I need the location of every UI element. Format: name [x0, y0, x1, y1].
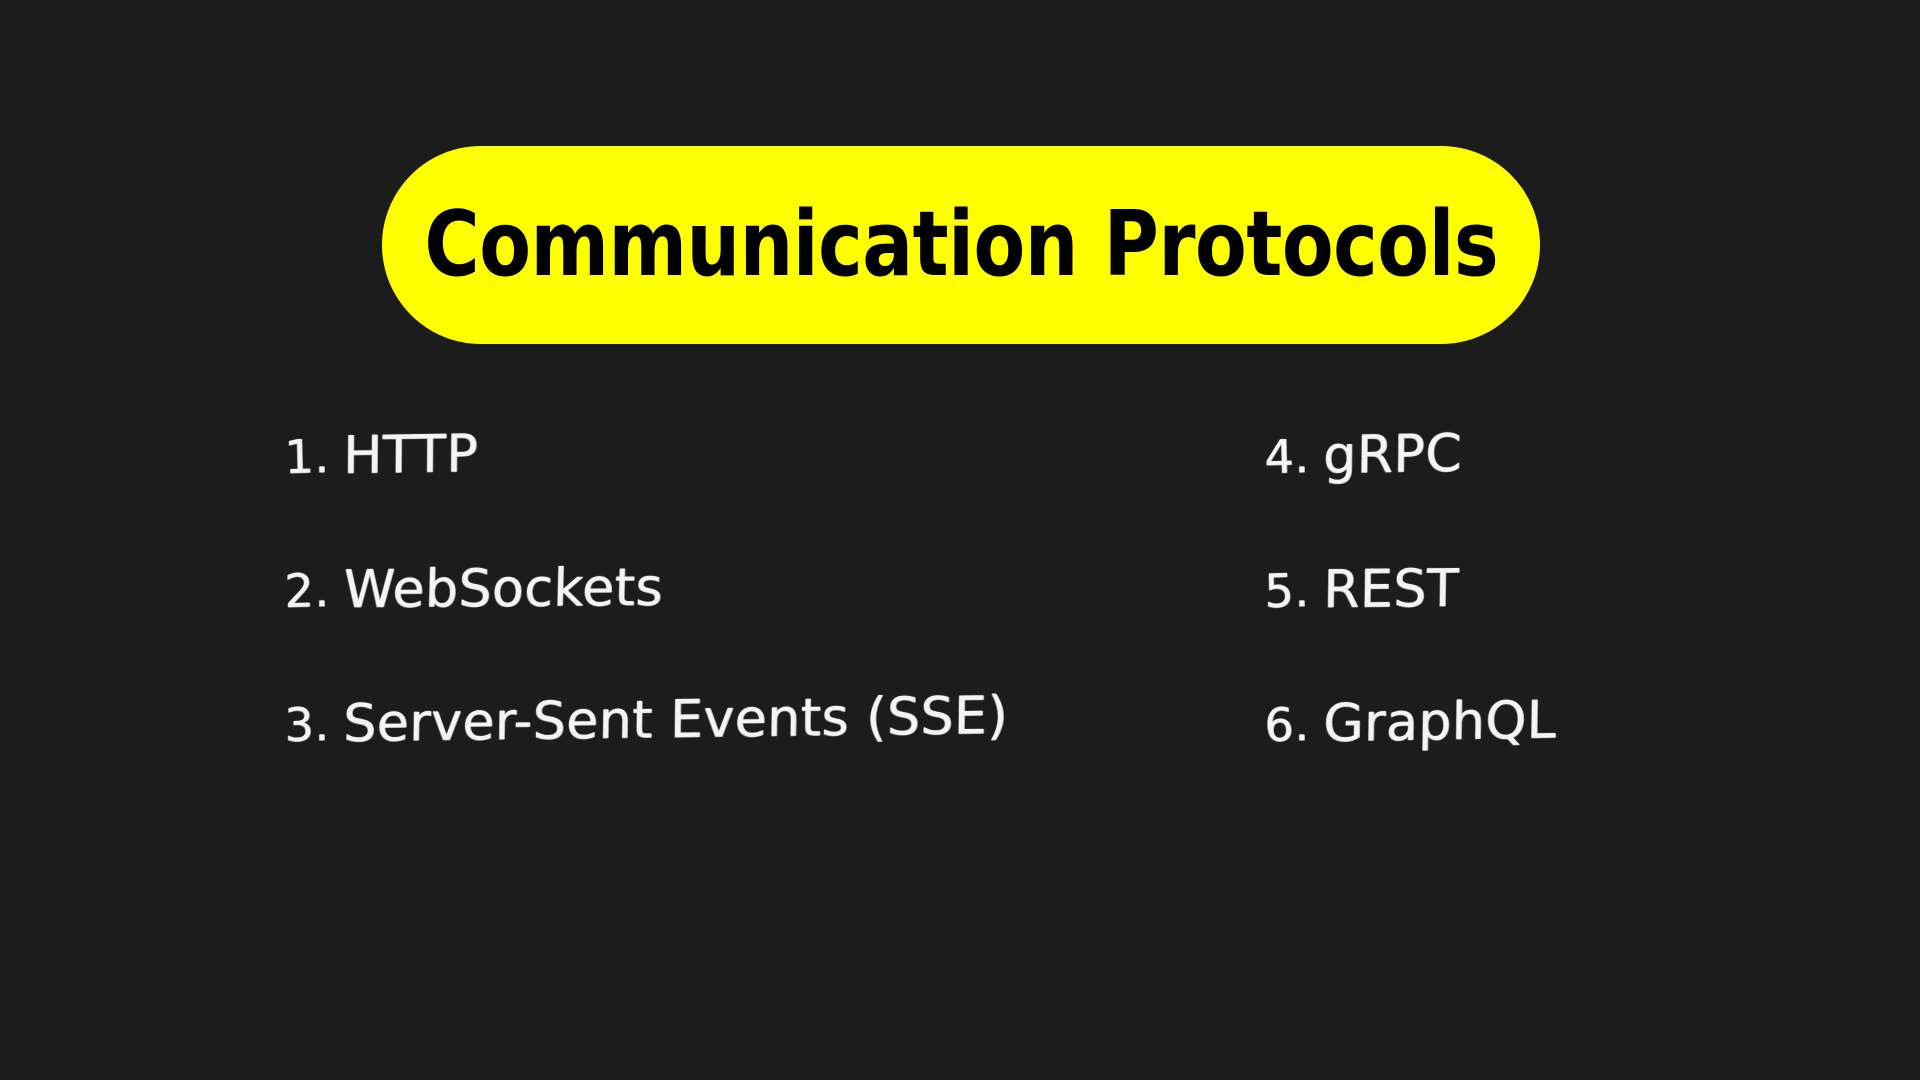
protocol-list: 1. HTTP 2. WebSockets 3. Server-Sent Eve…: [0, 430, 1920, 850]
list-item: 3. Server-Sent Events (SSE): [285, 698, 1008, 832]
list-item-number: 2.: [284, 567, 343, 614]
list-item: 1. HTTP: [285, 430, 1008, 564]
page-title: Communication Protocols: [424, 200, 1498, 290]
list-item: 6. GraphQL: [1265, 698, 1556, 832]
list-item-number: 3.: [284, 701, 343, 748]
list-item-number: 6.: [1264, 701, 1323, 748]
list-item: 4. gRPC: [1265, 430, 1556, 564]
title-pill: Communication Protocols: [382, 146, 1540, 344]
list-item-number: 4.: [1264, 433, 1323, 480]
list-item-label: WebSockets: [343, 562, 664, 616]
list-item: 2. WebSockets: [285, 564, 1008, 698]
list-item: 5. REST: [1265, 564, 1556, 698]
list-item-label: HTTP: [343, 428, 478, 482]
list-item-number: 5.: [1264, 567, 1323, 614]
list-item-label: Server-Sent Events (SSE): [343, 690, 1008, 750]
slide-canvas: Communication Protocols 1. HTTP 2. WebSo…: [0, 0, 1920, 1080]
protocol-list-left-column: 1. HTTP 2. WebSockets 3. Server-Sent Eve…: [285, 430, 1008, 832]
list-item-label: GraphQL: [1323, 694, 1557, 750]
list-item-label: gRPC: [1323, 428, 1462, 482]
list-item-label: REST: [1323, 563, 1459, 616]
protocol-list-right-column: 4. gRPC 5. REST 6. GraphQL: [1265, 430, 1556, 832]
list-item-number: 1.: [284, 433, 343, 480]
